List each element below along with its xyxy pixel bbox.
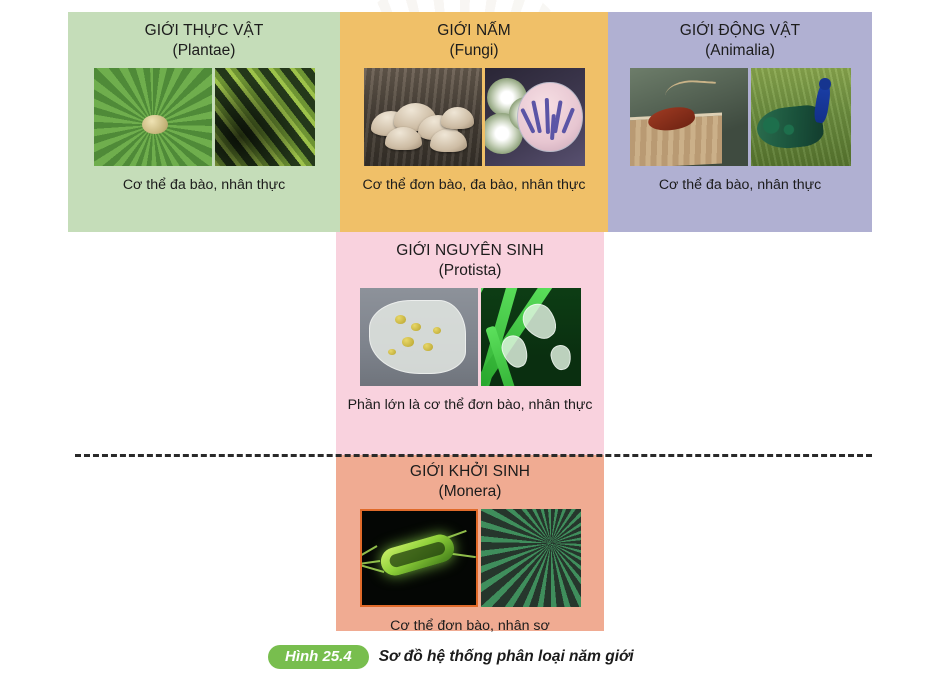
kingdom-panel-protista: GIỚI NGUYÊN SINH (Protista)	[336, 232, 604, 455]
bacillus-micrograph	[360, 509, 478, 607]
plantae-image-pair	[94, 68, 315, 166]
protozoa-on-algae-micrograph	[481, 288, 581, 386]
plantae-description: Cơ thể đa bào, nhân thực	[117, 176, 291, 194]
protista-image-pair	[360, 288, 581, 386]
monera-image-pair	[360, 509, 581, 607]
monera-title: GIỚI KHỞI SINH	[410, 463, 530, 482]
animalia-image-pair	[630, 68, 851, 166]
cockroach-photo	[630, 68, 748, 166]
monera-latin-name: (Monera)	[439, 483, 502, 502]
animalia-title: GIỚI ĐỘNG VẬT	[680, 22, 801, 41]
fungi-image-pair	[364, 68, 585, 166]
cycad-cone-photo	[94, 68, 212, 166]
figure-number-badge: Hình 25.4	[268, 645, 369, 669]
fungi-description: Cơ thể đơn bào, đa bào, nhân thực	[357, 176, 592, 194]
prokaryote-eukaryote-divider	[75, 454, 872, 457]
protista-latin-name: (Protista)	[439, 262, 502, 281]
penicillium-mold-photo	[485, 68, 585, 166]
peacock-photo	[751, 68, 851, 166]
kingdom-panel-plantae: GIỚI THỰC VẬT (Plantae) Cơ thể đa bào, n…	[68, 12, 340, 232]
protista-description: Phần lớn là cơ thể đơn bào, nhân thực	[342, 396, 599, 414]
monera-description: Cơ thể đơn bào, nhân sơ	[384, 617, 556, 635]
petri-dish-shape	[517, 82, 583, 153]
kingdom-panel-animalia: GIỚI ĐỘNG VẬT (Animalia)	[608, 12, 872, 232]
protista-title: GIỚI NGUYÊN SINH	[396, 242, 544, 261]
animalia-latin-name: (Animalia)	[705, 42, 775, 61]
bacteria-colony-micrograph	[481, 509, 581, 607]
plantae-title: GIỚI THỰC VẬT	[145, 22, 264, 41]
figure-root: sáng tạo GIỚI THỰC VẬT (Plantae) Cơ thể …	[0, 0, 938, 679]
animalia-description: Cơ thể đa bào, nhân thực	[653, 176, 827, 194]
kingdom-panel-monera: GIỚI KHỞI SINH (Monera) Cơ thể đơn bào, …	[336, 455, 604, 631]
kingdom-panel-fungi: GIỚI NẤM (Fungi)	[340, 12, 608, 232]
figure-caption: Hình 25.4 Sơ đồ hệ thống phân loại năm g…	[268, 645, 634, 669]
oyster-mushrooms-photo	[364, 68, 482, 166]
fungi-title: GIỚI NẤM	[437, 22, 511, 41]
moss-strands-photo	[215, 68, 315, 166]
plantae-latin-name: (Plantae)	[173, 42, 236, 61]
top-kingdom-row: GIỚI THỰC VẬT (Plantae) Cơ thể đa bào, n…	[68, 12, 872, 232]
amoeba-micrograph	[360, 288, 478, 386]
fungi-latin-name: (Fungi)	[449, 42, 498, 61]
figure-caption-text: Sơ đồ hệ thống phân loại năm giới	[379, 648, 634, 666]
